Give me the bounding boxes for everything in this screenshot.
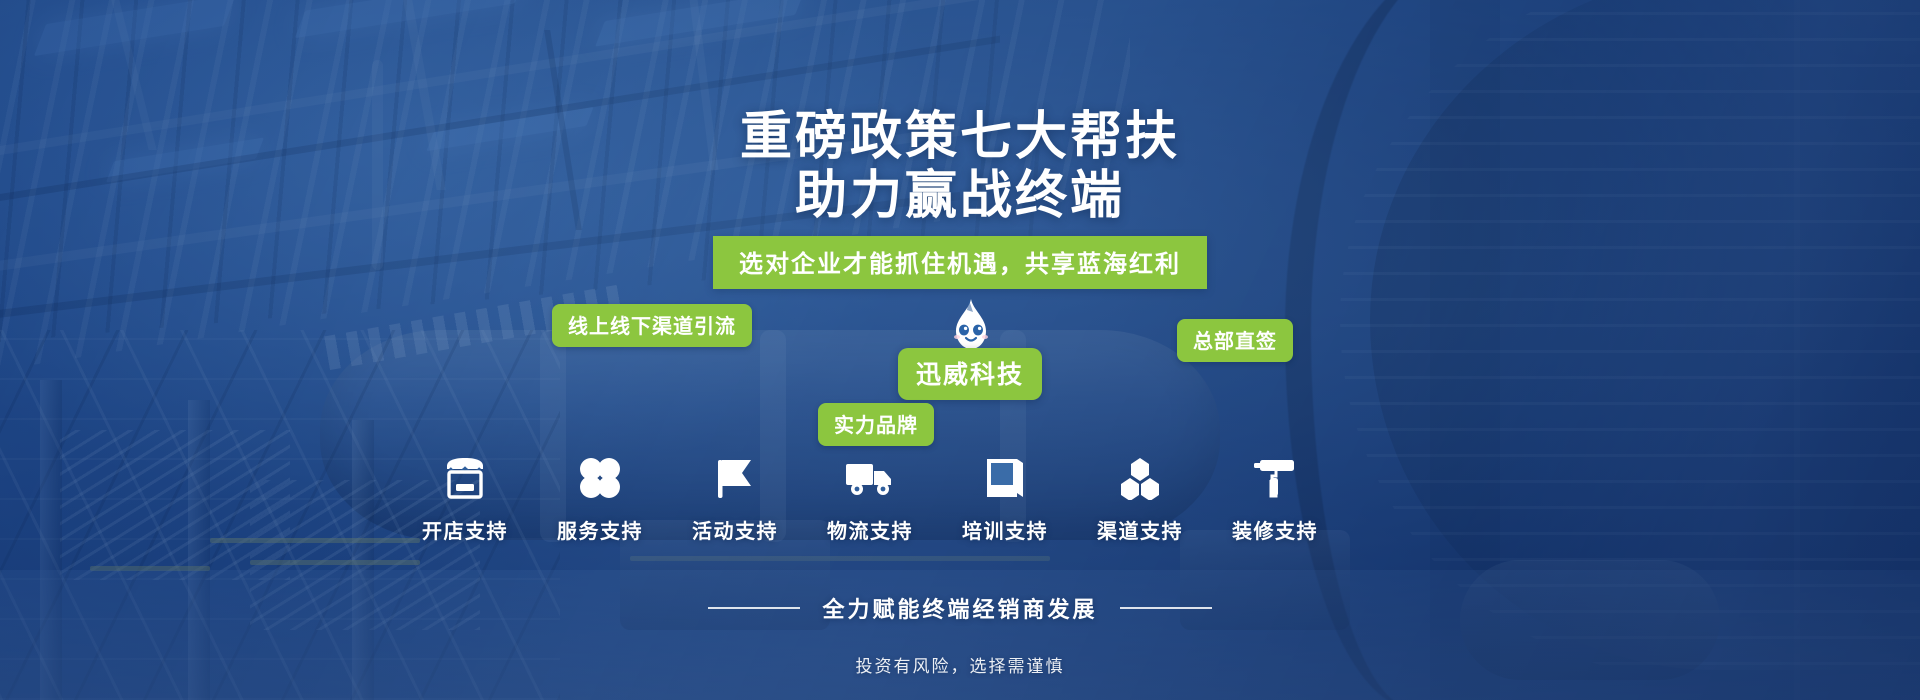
support-label: 服务支持 (525, 515, 675, 544)
support-items-row: 开店支持 服务支持 (0, 455, 1920, 555)
support-item-store[interactable]: 开店支持 (390, 455, 540, 544)
headline-line-1: 重磅政策七大帮扶 (740, 108, 1180, 166)
disclaimer: 投资有风险，选择需谨慎 (0, 652, 1920, 677)
storefront-icon (390, 455, 540, 501)
mindmap-node-left[interactable]: 线上线下渠道引流 (552, 304, 752, 347)
support-label: 渠道支持 (1065, 515, 1215, 544)
truck-icon (795, 455, 945, 501)
support-item-channel[interactable]: 渠道支持 (1065, 455, 1215, 544)
slogan: 全力赋能终端经销商发展 (0, 592, 1920, 624)
support-label: 培训支持 (930, 515, 1080, 544)
headline: 重磅政策七大帮扶 助力赢战终端 (0, 108, 1920, 227)
support-label: 活动支持 (660, 515, 810, 544)
support-item-training[interactable]: 培训支持 (930, 455, 1080, 544)
headline-line-2: 助力赢战终端 (0, 167, 1920, 226)
paint-roller-icon (1200, 455, 1350, 501)
book-icon (930, 455, 1080, 501)
slogan-rule-left (708, 607, 800, 609)
support-item-logistics[interactable]: 物流支持 (795, 455, 945, 544)
slogan-text: 全力赋能终端经销商发展 (822, 592, 1097, 624)
flag-icon (660, 455, 810, 501)
hexagons-icon (1065, 455, 1215, 501)
support-item-service[interactable]: 服务支持 (525, 455, 675, 544)
sub-banner: 选对企业才能抓住机遇，共享蓝海红利 (713, 236, 1207, 289)
support-item-activity[interactable]: 活动支持 (660, 455, 810, 544)
support-label: 装修支持 (1200, 515, 1350, 544)
mindmap-node-bottom[interactable]: 实力品牌 (818, 403, 934, 446)
support-label: 开店支持 (390, 515, 540, 544)
support-label: 物流支持 (795, 515, 945, 544)
brand-badge[interactable]: 迅威科技 (898, 348, 1042, 400)
flower-icon (525, 455, 675, 501)
mindmap-node-right[interactable]: 总部直签 (1177, 319, 1293, 362)
promo-banner: 重磅政策七大帮扶 助力赢战终端 选对企业才能抓住机遇，共享蓝海红利 (0, 0, 1920, 700)
support-item-decoration[interactable]: 装修支持 (1200, 455, 1350, 544)
slogan-rule-right (1120, 607, 1212, 609)
